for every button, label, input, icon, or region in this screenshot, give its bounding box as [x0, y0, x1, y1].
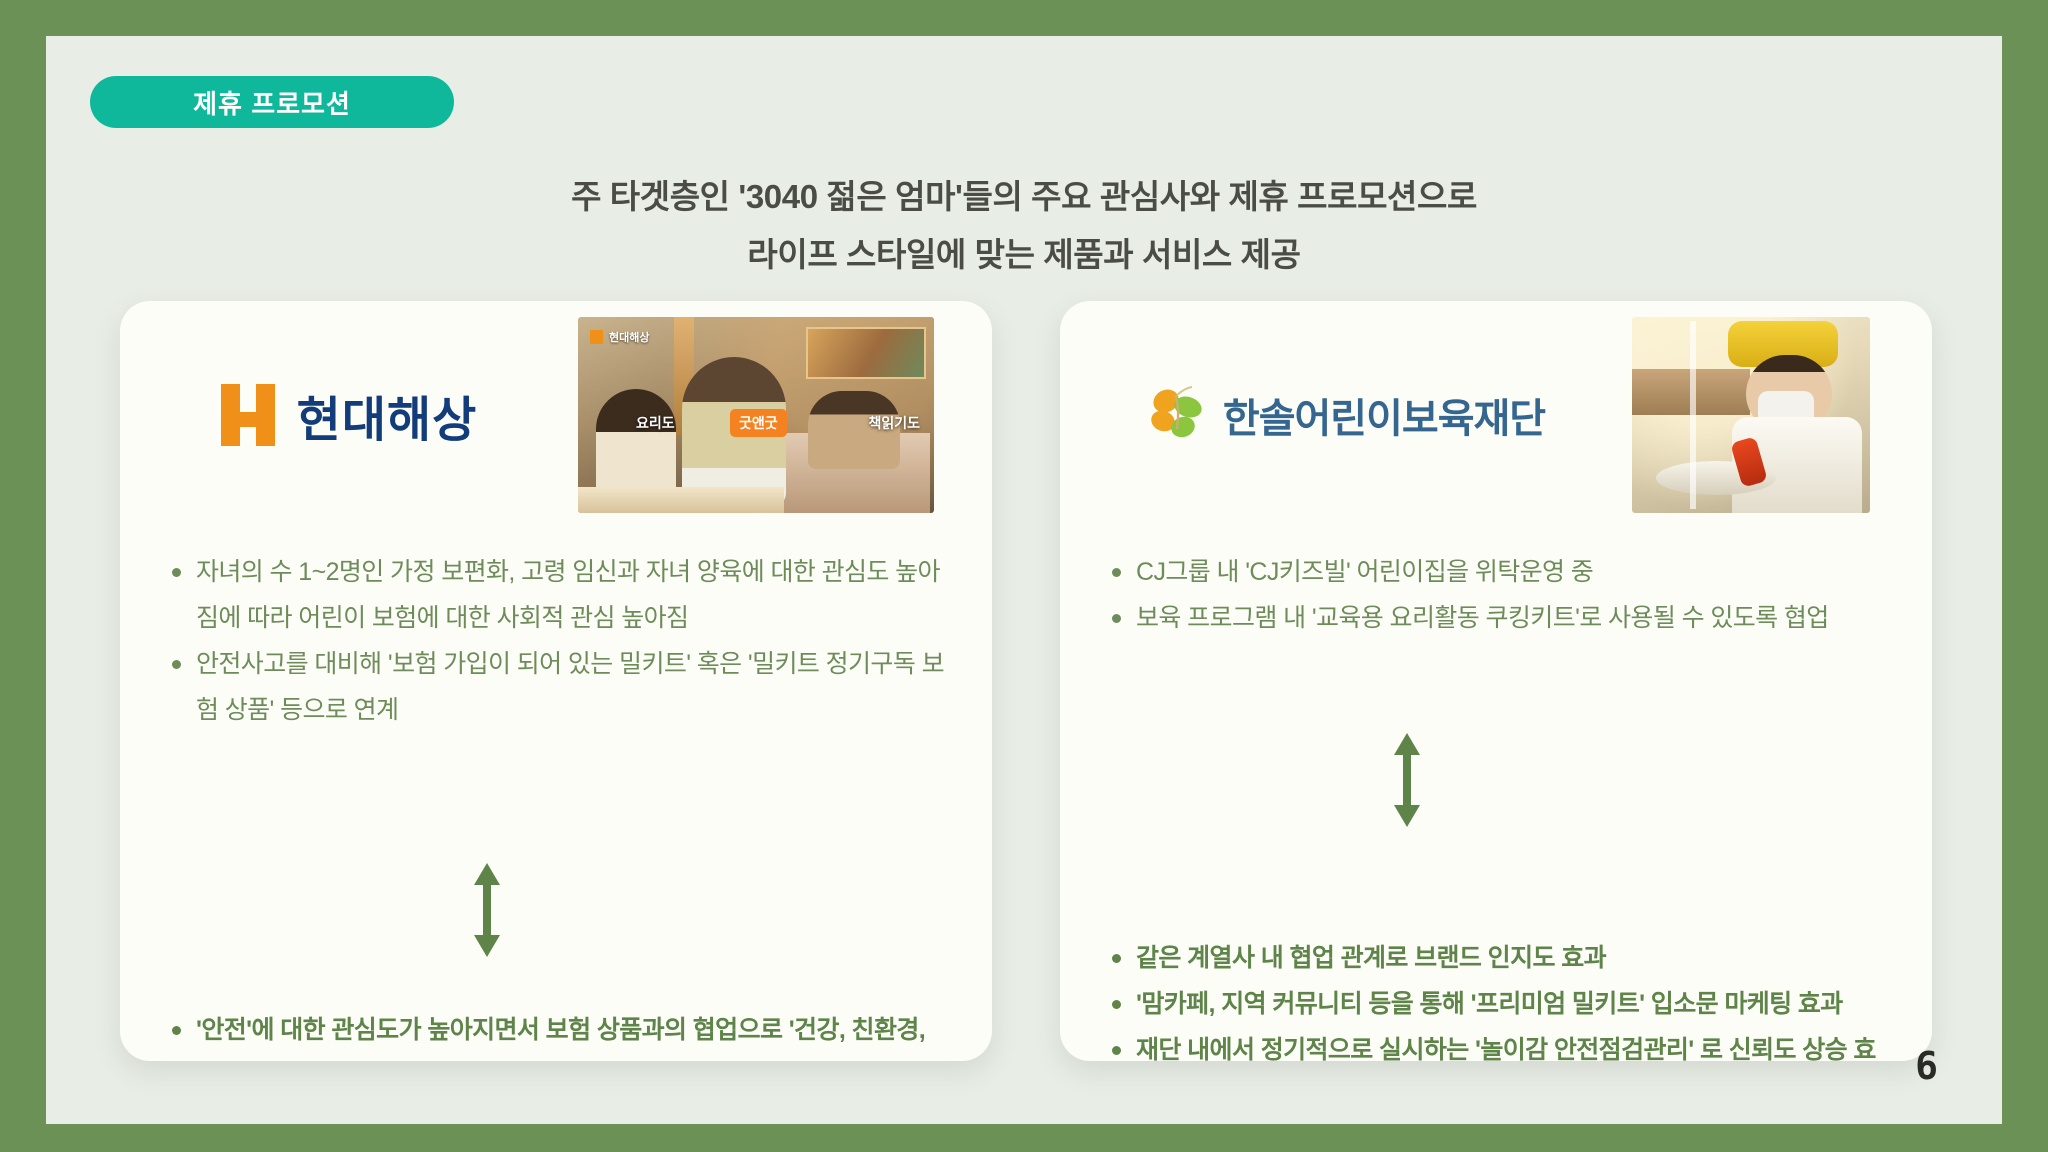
- logo-wrap-hyundai: 현대해상: [120, 301, 578, 529]
- photo-scene-hansol: [1632, 317, 1870, 513]
- bullet-list-hansol-top: CJ그룹 내 'CJ키즈빌' 어린이집을 위탁운영 중 보육 프로그램 내 '교…: [1060, 549, 1932, 641]
- photo-brand-text: 현대해상: [609, 329, 649, 345]
- photo-brand-watermark: 현대해상: [590, 329, 649, 345]
- list-item: 보육 프로그램 내 '교육용 요리활동 쿠킹키트'로 사용될 수 있도록 협업: [1106, 595, 1892, 641]
- butterfly-mark: [1147, 385, 1209, 445]
- hyundai-logo-text: 현대해상: [297, 380, 478, 450]
- headline-line-1: 주 타겟층인 '3040 젊은 엄마'들의 주요 관심사와 제휴 프로모션으로: [46, 168, 2002, 226]
- bullet-list-hyundai-bottom: '안전'에 대한 관심도가 높아지면서 보험 상품과의 협업으로 '건강, 친환…: [120, 1007, 992, 1061]
- photo-caption-badge: 굿앤굿: [730, 409, 787, 437]
- photo-caption-right: 책읽기도: [868, 413, 920, 433]
- hansol-logo: 한솔어린이보육재단: [1147, 385, 1545, 445]
- double-arrow-vertical-icon: [1390, 731, 1424, 829]
- page-title: 주 타겟층인 '3040 젊은 엄마'들의 주요 관심사와 제휴 프로모션으로 …: [46, 168, 2002, 284]
- list-item: '안전'에 대한 관심도가 높아지면서 보험 상품과의 협업으로 '건강, 친환…: [166, 1007, 952, 1061]
- logo-wrap-hansol: 한솔어린이보육재단: [1060, 301, 1632, 529]
- partner-card-hyundai: 현대해상: [120, 301, 992, 1061]
- hyundai-h-mark: [221, 384, 275, 446]
- list-item: CJ그룹 내 'CJ키즈빌' 어린이집을 위탁운영 중: [1106, 549, 1892, 595]
- card-header-hansol: 한솔어린이보육재단: [1060, 301, 1932, 529]
- partner-photo-hansol: [1632, 317, 1870, 513]
- list-item: 안전사고를 대비해 '보험 가입이 되어 있는 밀키트' 혹은 '밀키트 정기구…: [166, 641, 952, 733]
- page-number: 6: [1915, 1044, 1940, 1088]
- headline-line-2: 라이프 스타일에 맞는 제품과 서비스 제공: [46, 226, 2002, 284]
- double-arrow-vertical-icon: [470, 861, 504, 959]
- section-badge-label: 제휴 프로모션: [193, 84, 351, 121]
- hansol-logo-text: 한솔어린이보육재단: [1223, 386, 1545, 444]
- slide: 제휴 프로모션 주 타겟층인 '3040 젊은 엄마'들의 주요 관심사와 제휴…: [0, 0, 2048, 1152]
- hyundai-h-mark-small: [590, 330, 603, 344]
- list-item: 재단 내에서 정기적으로 실시하는 '놀이감 안전점검관리' 로 신뢰도 상승 …: [1106, 1027, 1892, 1061]
- list-item: '맘카페, 지역 커뮤니티 등을 통해 '프리미엄 밀키트' 입소문 마케팅 효…: [1106, 981, 1892, 1027]
- partner-card-grid: 현대해상: [120, 301, 1932, 1061]
- photo-caption-left: 요리도: [636, 413, 675, 433]
- card-header-hyundai: 현대해상: [120, 301, 992, 529]
- slide-inner-panel: 제휴 프로모션 주 타겟층인 '3040 젊은 엄마'들의 주요 관심사와 제휴…: [46, 36, 2002, 1124]
- partner-card-hansol: 한솔어린이보육재단: [1060, 301, 1932, 1061]
- section-badge: 제휴 프로모션: [90, 76, 454, 128]
- bullet-list-hyundai-top: 자녀의 수 1~2명인 가정 보편화, 고령 임신과 자녀 양육에 대한 관심도…: [120, 549, 992, 733]
- list-item: 자녀의 수 1~2명인 가정 보편화, 고령 임신과 자녀 양육에 대한 관심도…: [166, 549, 952, 641]
- bullet-list-hansol-bottom: 같은 계열사 내 협업 관계로 브랜드 인지도 효과 '맘카페, 지역 커뮤니티…: [1060, 935, 1932, 1061]
- list-item: 같은 계열사 내 협업 관계로 브랜드 인지도 효과: [1106, 935, 1892, 981]
- partner-photo-hyundai: 현대해상 요리도 굿앤굿 책읽기도: [578, 317, 934, 513]
- hyundai-logo: 현대해상: [221, 380, 478, 450]
